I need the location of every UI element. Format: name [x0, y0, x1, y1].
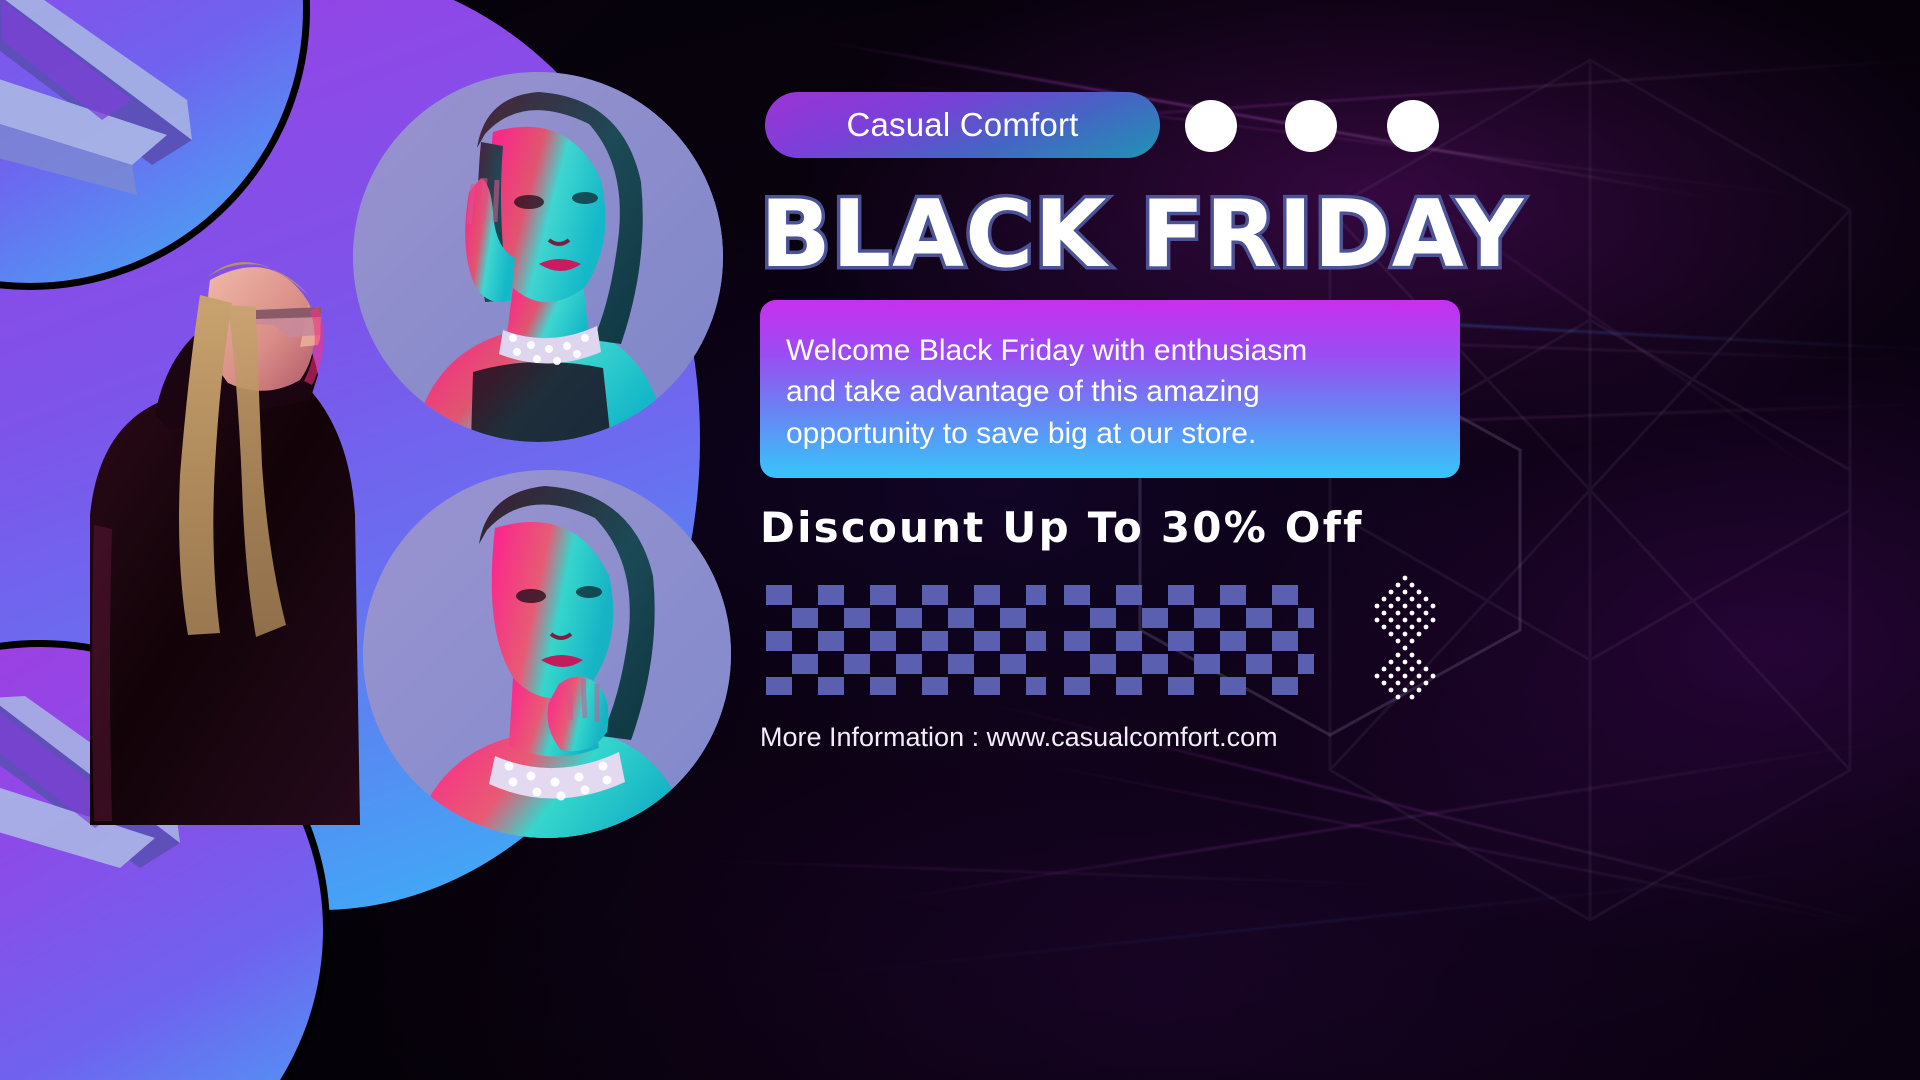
penrose-triangle-top-icon [0, 0, 222, 210]
dotted-diamond-icon [1365, 570, 1445, 700]
checker-block-left [766, 585, 1046, 695]
discount-headline: Discount Up To 30% Off [760, 503, 1920, 552]
decor-dots-group [1185, 100, 1465, 152]
black-friday-promo-banner: Casual Comfort BLACK FRIDAY Welcome Blac… [0, 0, 1920, 1080]
page-title: BLACK FRIDAY [760, 180, 1920, 288]
brand-badge-label: Casual Comfort [846, 106, 1078, 144]
model-portrait-top [353, 72, 723, 442]
promo-message-box: Welcome Black Friday with enthusiasm and… [760, 300, 1460, 478]
brand-badge[interactable]: Casual Comfort [765, 92, 1160, 158]
model-collage [0, 0, 770, 1080]
checker-block-right [1064, 585, 1314, 695]
promo-line-3: opportunity to save big at our store. [786, 413, 1460, 454]
dot-3-icon [1387, 100, 1439, 152]
dot-2-icon [1285, 100, 1337, 152]
model-photo-hooded [60, 185, 400, 825]
content-column: Casual Comfort BLACK FRIDAY Welcome Blac… [760, 0, 1920, 1080]
promo-line-2: and take advantage of this amazing [786, 371, 1460, 412]
dot-1-icon [1185, 100, 1237, 152]
model-portrait-bottom [363, 470, 731, 838]
promo-line-1: Welcome Black Friday with enthusiasm [786, 330, 1460, 371]
more-information-text[interactable]: More Information : www.casualcomfort.com [760, 722, 1920, 753]
